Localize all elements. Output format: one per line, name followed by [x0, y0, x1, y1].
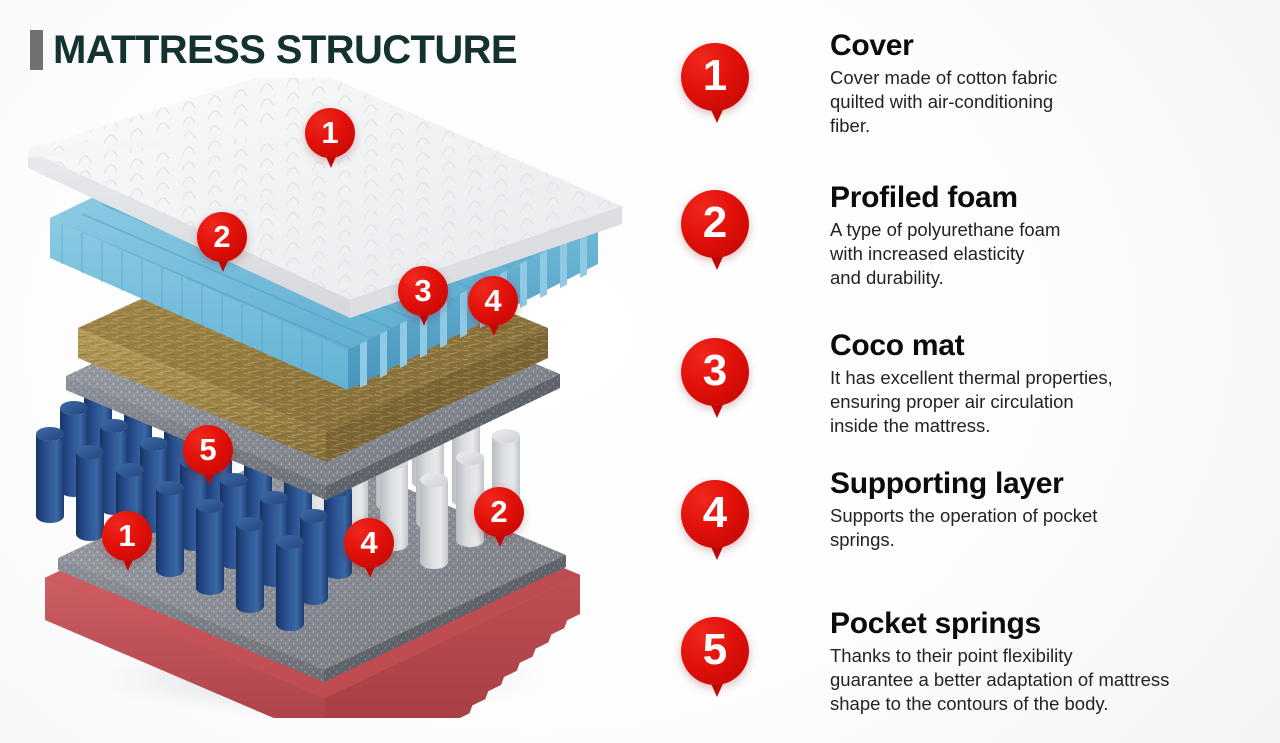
desc-line: shape to the contours of the body. — [830, 692, 1169, 716]
pin-number: 4 — [703, 491, 727, 535]
legend-pin-5[interactable]: 5 — [681, 617, 749, 685]
desc-line: guarantee a better adaptation of mattres… — [830, 668, 1169, 692]
pin-bubble: 2 — [681, 190, 749, 258]
desc-line: Thanks to their point flexibility — [830, 644, 1169, 668]
legend-item-heading: Coco mat — [830, 330, 1113, 362]
legend-item-pocket-springs: Pocket springs Thanks to their point fle… — [830, 608, 1169, 716]
desc-line: springs. — [830, 528, 1097, 552]
legend-item-coco-mat: Coco mat It has excellent thermal proper… — [830, 330, 1113, 438]
legend-item-description: A type of polyurethane foam with increas… — [830, 218, 1060, 290]
legend-item-supporting-layer: Supporting layer Supports the operation … — [830, 468, 1097, 552]
desc-line: It has excellent thermal properties, — [830, 366, 1113, 390]
desc-line: Supports the operation of pocket — [830, 504, 1097, 528]
pin-number: 2 — [703, 201, 727, 245]
desc-line: ensuring proper air circulation — [830, 390, 1113, 414]
pin-bubble: 1 — [681, 43, 749, 111]
pin-number: 1 — [703, 54, 727, 98]
legend-item-profiled-foam: Profiled foam A type of polyurethane foa… — [830, 182, 1060, 290]
pin-bubble: 3 — [681, 338, 749, 406]
desc-line: fiber. — [830, 114, 1057, 138]
desc-line: inside the mattress. — [830, 414, 1113, 438]
legend-item-heading: Profiled foam — [830, 182, 1060, 214]
legend-item-heading: Supporting layer — [830, 468, 1097, 500]
pin-bubble: 4 — [681, 480, 749, 548]
desc-line: A type of polyurethane foam — [830, 218, 1060, 242]
desc-line: quilted with air-conditioning — [830, 90, 1057, 114]
legend-item-description: Cover made of cotton fabric quilted with… — [830, 66, 1057, 138]
legend-item-heading: Cover — [830, 30, 1057, 62]
legend-item-cover: Cover Cover made of cotton fabric quilte… — [830, 30, 1057, 138]
legend-pin-2[interactable]: 2 — [681, 190, 749, 258]
legend-item-heading: Pocket springs — [830, 608, 1169, 640]
desc-line: Cover made of cotton fabric — [830, 66, 1057, 90]
legend-pin-1[interactable]: 1 — [681, 43, 749, 111]
legend-pin-4[interactable]: 4 — [681, 480, 749, 548]
pin-number: 3 — [703, 349, 727, 393]
legend-item-description: It has excellent thermal properties, ens… — [830, 366, 1113, 438]
legend-list: 1 Cover Cover made of cotton fabric quil… — [0, 0, 1280, 743]
desc-line: and durability. — [830, 266, 1060, 290]
desc-line: with increased elasticity — [830, 242, 1060, 266]
legend-item-description: Thanks to their point flexibility guaran… — [830, 644, 1169, 716]
legend-pin-3[interactable]: 3 — [681, 338, 749, 406]
pin-number: 5 — [703, 628, 727, 672]
legend-item-description: Supports the operation of pocket springs… — [830, 504, 1097, 552]
pin-bubble: 5 — [681, 617, 749, 685]
